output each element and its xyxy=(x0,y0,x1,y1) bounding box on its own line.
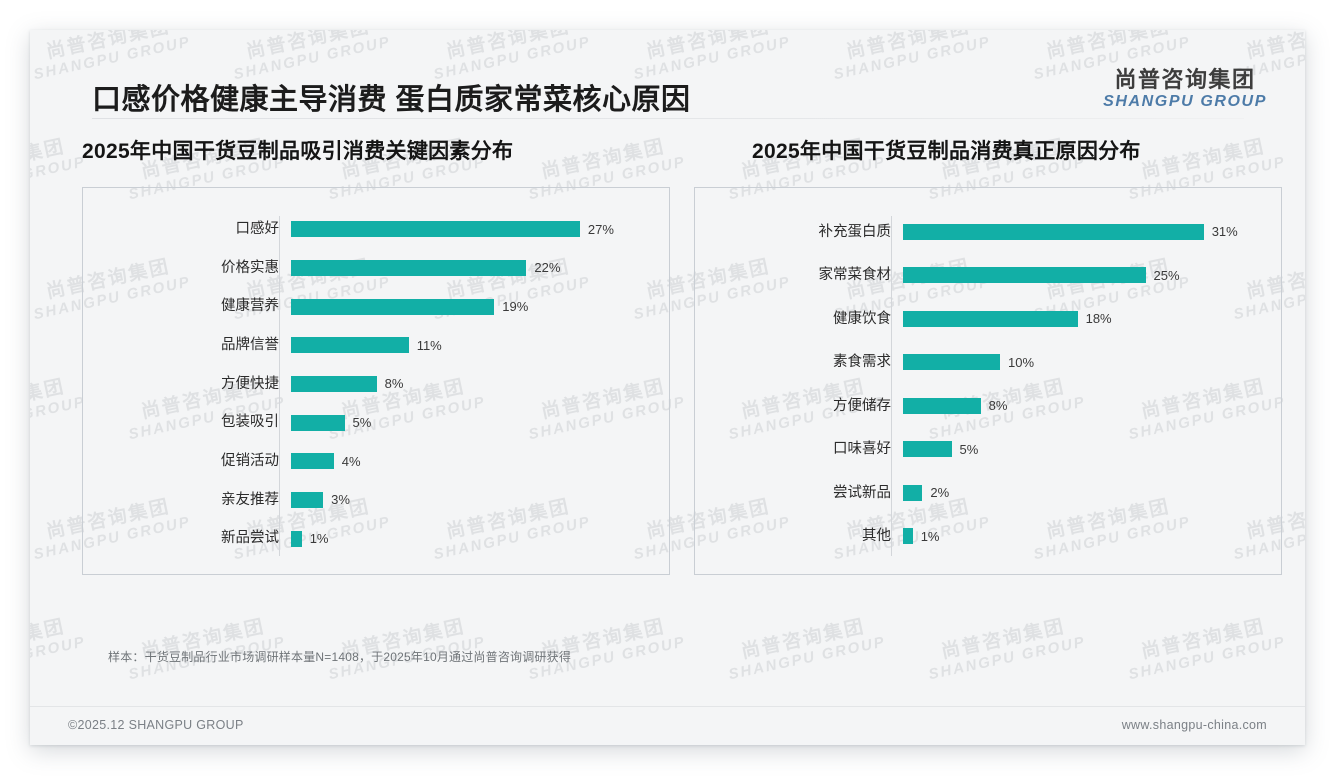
bar-value-label: 1% xyxy=(302,532,329,545)
watermark-text: 尚普咨询集团SHANGPU GROUP xyxy=(30,374,87,443)
bar-value-label: 18% xyxy=(1078,312,1112,325)
bar-segment[interactable] xyxy=(291,531,302,547)
plot-left: 口感好27%价格实惠22%健康营养19%品牌信誉11%方便快捷8%包装吸引5%促… xyxy=(83,188,669,574)
watermark-en: SHANGPU GROUP xyxy=(30,634,87,683)
website-link[interactable]: www.shangpu-china.com xyxy=(1122,718,1267,732)
bar-row[interactable]: 尝试新品2% xyxy=(695,481,1281,505)
bar-row[interactable]: 价格实惠22% xyxy=(83,256,669,280)
bar-row[interactable]: 品牌信誉11% xyxy=(83,333,669,357)
watermark-en: SHANGPU GROUP xyxy=(30,154,87,203)
watermark-cn: 尚普咨询集团 xyxy=(30,614,84,667)
watermark-text: 尚普咨询集团SHANGPU GROUP xyxy=(1123,614,1287,683)
bar-row[interactable]: 家常菜食材25% xyxy=(695,263,1281,287)
watermark-cn: 尚普咨询集团 xyxy=(30,374,84,427)
watermark-en: SHANGPU GROUP xyxy=(30,394,87,443)
bar-category-label: 素食需求 xyxy=(695,355,903,370)
chart-panel-right: 2025年中国干货豆制品消费真正原因分布 补充蛋白质31%家常菜食材25%健康饮… xyxy=(694,135,1282,575)
bar-row[interactable]: 促销活动4% xyxy=(83,449,669,473)
bar-row[interactable]: 方便储存8% xyxy=(695,394,1281,418)
bar-segment[interactable] xyxy=(291,221,580,237)
bar-segment[interactable] xyxy=(291,260,526,276)
bar-segment[interactable] xyxy=(291,337,409,353)
brand-name-en: SHANGPU GROUP xyxy=(1103,93,1267,111)
bar-value-label: 31% xyxy=(1204,225,1238,238)
bar-segment[interactable] xyxy=(903,528,913,544)
bar-category-label: 口感好 xyxy=(83,222,291,237)
bar-value-label: 10% xyxy=(1000,356,1034,369)
bar-row[interactable]: 其他1% xyxy=(695,524,1281,548)
chart-title-left: 2025年中国干货豆制品吸引消费关键因素分布 xyxy=(82,135,670,165)
bar-category-label: 促销活动 xyxy=(83,454,291,469)
bar-row[interactable]: 包装吸引5% xyxy=(83,411,669,435)
bar-segment[interactable] xyxy=(291,415,345,431)
watermark-text: 尚普咨询集团SHANGPU GROUP xyxy=(923,614,1087,683)
bar-row[interactable]: 补充蛋白质31% xyxy=(695,220,1281,244)
bar-value-label: 1% xyxy=(913,530,940,543)
watermark-en: SHANGPU GROUP xyxy=(1127,634,1287,683)
bar-category-label: 品牌信誉 xyxy=(83,338,291,353)
bar-row[interactable]: 健康营养19% xyxy=(83,295,669,319)
bar-value-label: 22% xyxy=(526,261,560,274)
bar-category-label: 其他 xyxy=(695,529,903,544)
chart-panel-left: 2025年中国干货豆制品吸引消费关键因素分布 口感好27%价格实惠22%健康营养… xyxy=(82,135,670,575)
bar-segment[interactable] xyxy=(903,398,981,414)
bar-category-label: 补充蛋白质 xyxy=(695,225,903,240)
bar-category-label: 方便储存 xyxy=(695,399,903,414)
bar-value-label: 3% xyxy=(323,493,350,506)
bar-row[interactable]: 口感好27% xyxy=(83,217,669,241)
bar-value-label: 8% xyxy=(981,399,1008,412)
bar-rows-right: 补充蛋白质31%家常菜食材25%健康饮食18%素食需求10%方便储存8%口味喜好… xyxy=(695,210,1281,558)
bar-value-label: 25% xyxy=(1146,269,1180,282)
bar-category-label: 尝试新品 xyxy=(695,486,903,501)
bar-segment[interactable] xyxy=(903,311,1078,327)
bar-category-label: 健康饮食 xyxy=(695,312,903,327)
watermark-cn: 尚普咨询集团 xyxy=(723,614,884,667)
watermark-cn: 尚普咨询集团 xyxy=(923,614,1084,667)
slide-header: 口感价格健康主导消费 蛋白质家常菜核心原因 尚普咨询集团 SHANGPU GRO… xyxy=(30,30,1305,120)
bar-segment[interactable] xyxy=(903,354,1000,370)
bar-value-label: 8% xyxy=(377,377,404,390)
brand-name-cn: 尚普咨询集团 xyxy=(1103,68,1267,93)
bar-value-label: 27% xyxy=(580,223,614,236)
bar-rows-left: 口感好27%价格实惠22%健康营养19%品牌信誉11%方便快捷8%包装吸引5%促… xyxy=(83,210,669,558)
sample-footnote: 样本：干货豆制品行业市场调研样本量N=1408，于2025年10月通过尚普咨询调… xyxy=(108,648,571,665)
bar-segment[interactable] xyxy=(903,224,1204,240)
bar-category-label: 口味喜好 xyxy=(695,442,903,457)
watermark-text: 尚普咨询集团SHANGPU GROUP xyxy=(30,134,87,203)
plot-right: 补充蛋白质31%家常菜食材25%健康饮食18%素食需求10%方便储存8%口味喜好… xyxy=(695,188,1281,574)
bar-segment[interactable] xyxy=(291,453,334,469)
copyright-text: ©2025.12 SHANGPU GROUP xyxy=(68,718,244,732)
bar-value-label: 5% xyxy=(345,416,372,429)
bar-segment[interactable] xyxy=(903,267,1146,283)
watermark-text: 尚普咨询集团SHANGPU GROUP xyxy=(723,614,887,683)
slide-footer: ©2025.12 SHANGPU GROUP www.shangpu-china… xyxy=(30,706,1305,745)
chart-frame-left: 口感好27%价格实惠22%健康营养19%品牌信誉11%方便快捷8%包装吸引5%促… xyxy=(82,187,670,575)
bar-category-label: 价格实惠 xyxy=(83,261,291,276)
bar-row[interactable]: 新品尝试1% xyxy=(83,527,669,551)
watermark-en: SHANGPU GROUP xyxy=(927,634,1087,683)
bar-value-label: 11% xyxy=(409,339,442,352)
bar-value-label: 4% xyxy=(334,455,361,468)
bar-category-label: 方便快捷 xyxy=(83,377,291,392)
brand-logo: 尚普咨询集团 SHANGPU GROUP xyxy=(1103,68,1267,111)
watermark-cn: 尚普咨询集团 xyxy=(1123,614,1284,667)
bar-segment[interactable] xyxy=(291,299,494,315)
chart-frame-right: 补充蛋白质31%家常菜食材25%健康饮食18%素食需求10%方便储存8%口味喜好… xyxy=(694,187,1282,575)
bar-row[interactable]: 素食需求10% xyxy=(695,350,1281,374)
bar-value-label: 5% xyxy=(952,443,979,456)
bar-category-label: 健康营养 xyxy=(83,299,291,314)
bar-row[interactable]: 健康饮食18% xyxy=(695,307,1281,331)
bar-category-label: 亲友推荐 xyxy=(83,493,291,508)
bar-category-label: 包装吸引 xyxy=(83,415,291,430)
bar-category-label: 新品尝试 xyxy=(83,531,291,546)
page-title: 口感价格健康主导消费 蛋白质家常菜核心原因 xyxy=(92,76,691,118)
bar-value-label: 2% xyxy=(922,486,949,499)
bar-segment[interactable] xyxy=(903,485,922,501)
bar-row[interactable]: 口味喜好5% xyxy=(695,437,1281,461)
bar-segment[interactable] xyxy=(291,376,377,392)
bar-segment[interactable] xyxy=(291,492,323,508)
bar-row[interactable]: 方便快捷8% xyxy=(83,372,669,396)
watermark-text: 尚普咨询集团SHANGPU GROUP xyxy=(30,614,87,683)
watermark-cn: 尚普咨询集团 xyxy=(30,134,84,187)
slide-card: 尚普咨询集团SHANGPU GROUP尚普咨询集团SHANGPU GROUP尚普… xyxy=(30,30,1305,745)
chart-title-right: 2025年中国干货豆制品消费真正原因分布 xyxy=(694,135,1282,165)
header-divider xyxy=(92,118,1244,119)
bar-category-label: 家常菜食材 xyxy=(695,268,903,283)
bar-segment[interactable] xyxy=(903,441,952,457)
bar-value-label: 19% xyxy=(494,300,528,313)
bar-row[interactable]: 亲友推荐3% xyxy=(83,488,669,512)
watermark-en: SHANGPU GROUP xyxy=(727,634,887,683)
